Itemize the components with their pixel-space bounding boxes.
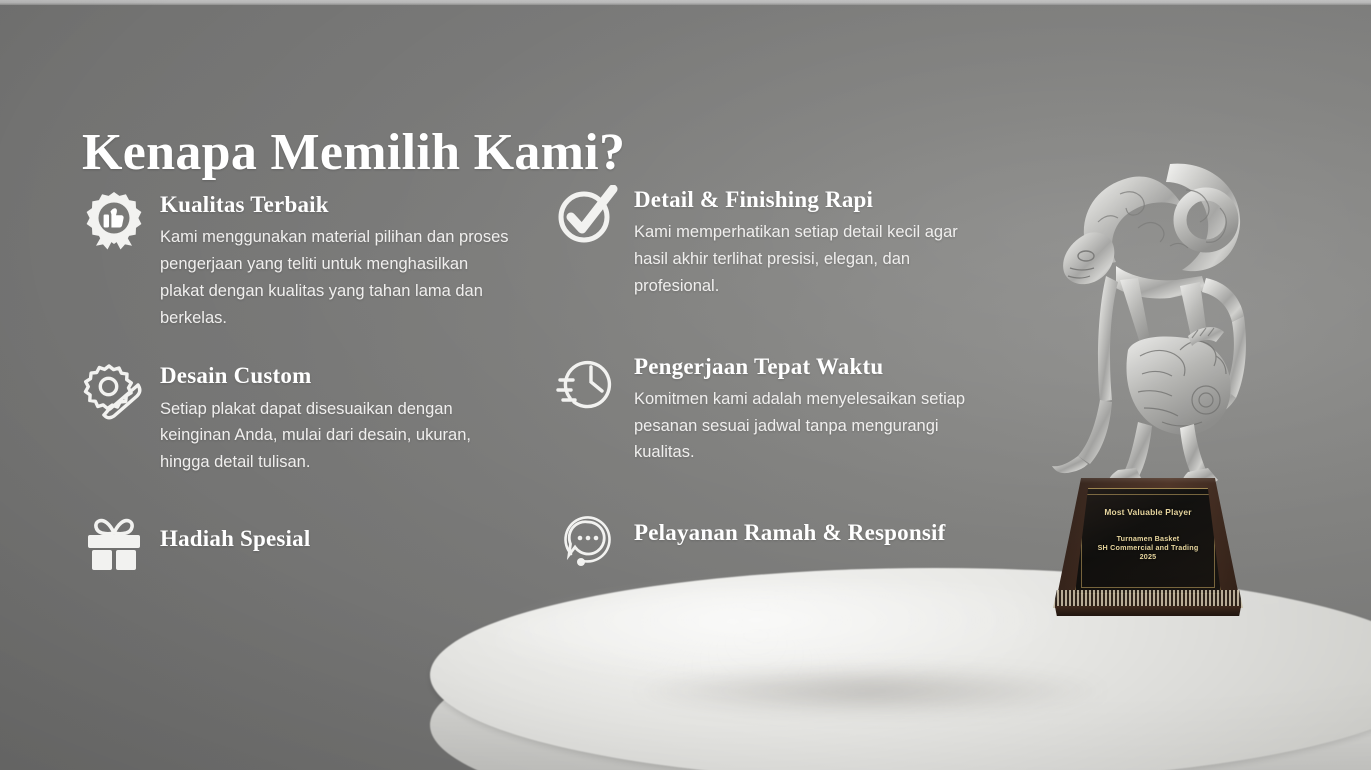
feature-title: Pengerjaan Tepat Waktu xyxy=(634,354,986,380)
features-column-right: Detail & Finishing Rapi Kami memperhatik… xyxy=(556,185,986,572)
feature-text: Kualitas Terbaik Kami menggunakan materi… xyxy=(160,190,512,331)
feature-item-kualitas-terbaik: Kualitas Terbaik Kami menggunakan materi… xyxy=(82,190,512,331)
feature-description: Kami menggunakan material pilihan dan pr… xyxy=(160,224,512,331)
feature-item-hadiah-spesial: Hadiah Spesial xyxy=(82,514,512,578)
feature-description: Kami memperhatikan setiap detail kecil a… xyxy=(634,219,986,299)
feature-item-desain-custom: Desain Custom Setiap plakat dapat disesu… xyxy=(82,361,512,476)
feature-title: Pelayanan Ramah & Responsif xyxy=(634,520,986,546)
chat-bubble-dots-icon xyxy=(556,508,620,572)
check-circle-icon xyxy=(556,185,620,249)
feature-title: Detail & Finishing Rapi xyxy=(634,187,986,213)
plaque-line-2: Turnamen Basket xyxy=(1076,534,1220,543)
feature-text: Pelayanan Ramah & Responsif xyxy=(634,508,986,546)
award-badge-thumbs-up-icon xyxy=(82,190,146,254)
plaque-line-1: Most Valuable Player xyxy=(1076,507,1220,518)
feature-title: Hadiah Spesial xyxy=(160,526,512,552)
feature-text: Hadiah Spesial xyxy=(160,514,512,552)
slide-canvas: Most Valuable Player Turnamen Basket SH … xyxy=(0,0,1371,770)
plaque-line-3: SH Commercial and Trading xyxy=(1076,543,1220,552)
feature-title: Desain Custom xyxy=(160,363,512,389)
plaque-engraved-plate: Most Valuable Player Turnamen Basket SH … xyxy=(1075,488,1221,594)
gear-pencil-design-icon xyxy=(82,361,146,425)
trophy-figurine: Most Valuable Player Turnamen Basket SH … xyxy=(1020,150,1290,650)
plaque-bottom-lip xyxy=(1051,606,1245,616)
gift-box-icon xyxy=(82,514,146,578)
page-title: Kenapa Memilih Kami? xyxy=(82,123,625,182)
feature-description: Komitmen kami adalah menyelesaikan setia… xyxy=(634,386,986,466)
feature-item-tepat-waktu: Pengerjaan Tepat Waktu Komitmen kami ada… xyxy=(556,352,986,467)
feature-text: Pengerjaan Tepat Waktu Komitmen kami ada… xyxy=(634,352,986,467)
feature-title: Kualitas Terbaik xyxy=(160,192,512,218)
feature-description: Setiap plakat dapat disesuaikan dengan k… xyxy=(160,396,512,476)
slide-top-edge xyxy=(0,0,1371,5)
feature-text: Desain Custom Setiap plakat dapat disesu… xyxy=(160,361,512,476)
plaque-line-4: 2025 xyxy=(1076,552,1220,561)
plaque-engraving: Most Valuable Player Turnamen Basket SH … xyxy=(1076,507,1220,561)
feature-text: Detail & Finishing Rapi Kami memperhatik… xyxy=(634,185,986,300)
feature-item-pelayanan-ramah: Pelayanan Ramah & Responsif xyxy=(556,508,986,572)
wayang-figure-icon xyxy=(1020,150,1290,510)
table-shadow xyxy=(550,656,1190,726)
clock-speed-icon xyxy=(556,352,620,416)
feature-item-detail-finishing: Detail & Finishing Rapi Kami memperhatik… xyxy=(556,185,986,300)
trophy-plaque-base: Most Valuable Player Turnamen Basket SH … xyxy=(1055,478,1241,630)
features-column-left: Kualitas Terbaik Kami menggunakan materi… xyxy=(82,190,512,578)
plaque-ornate-trim xyxy=(1053,590,1243,608)
